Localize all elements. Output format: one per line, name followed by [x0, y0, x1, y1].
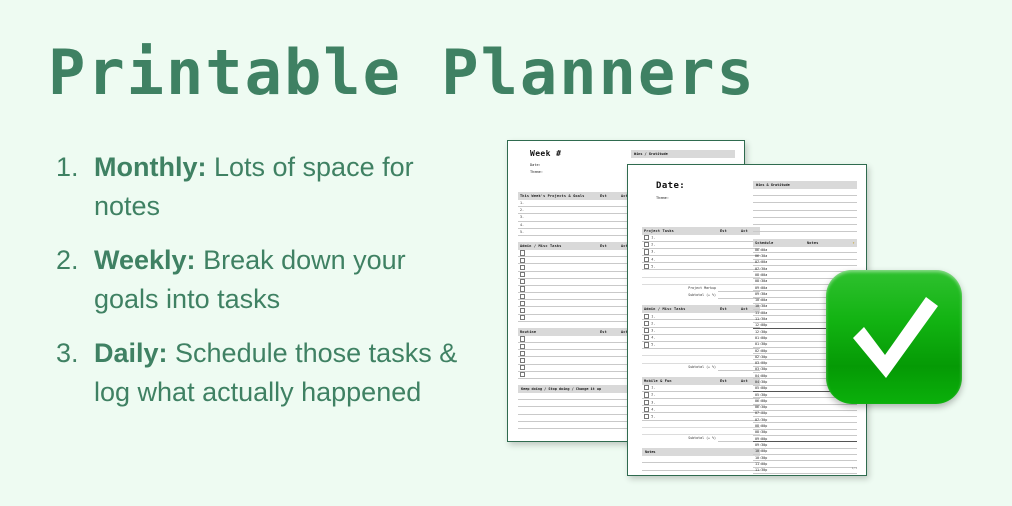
table-cell-task[interactable]	[518, 250, 598, 257]
table-cell-est[interactable]	[598, 207, 619, 214]
weekly-wins-header: Wins / Gratitude	[631, 150, 735, 158]
table-row[interactable]: 2.	[518, 207, 640, 214]
table-header-row: Project TasksEstAct	[642, 227, 760, 235]
table-row[interactable]	[518, 264, 640, 271]
table-cell-est[interactable]	[718, 256, 739, 263]
checkbox-icon[interactable]	[644, 249, 649, 254]
checkbox-icon[interactable]	[644, 414, 649, 419]
table-row[interactable]: 4.	[642, 406, 760, 413]
planner-table: Admin / Misc TasksEstAct	[518, 242, 640, 322]
table-row[interactable]: 5.	[642, 341, 760, 348]
table-cell-task[interactable]	[642, 270, 718, 277]
checkbox-icon[interactable]	[644, 321, 649, 326]
table-row-blank[interactable]	[642, 356, 760, 363]
table-cell-est[interactable]	[598, 371, 619, 378]
table-cell-task[interactable]	[642, 277, 718, 284]
weekly-reflection-header: Keep doing / Stop doing / Change it up	[518, 385, 640, 393]
table-cell-task[interactable]	[518, 307, 598, 314]
table-cell-task[interactable]	[518, 278, 598, 285]
table-total-row: Subtotal (+ %)	[642, 292, 760, 299]
table-cell-task[interactable]: 2.	[518, 207, 598, 214]
table-row[interactable]: 3.	[642, 327, 760, 334]
table-row[interactable]	[518, 336, 640, 343]
table-cell-est[interactable]	[598, 257, 619, 264]
table-cell-est[interactable]	[598, 364, 619, 371]
weekly-reflection-line[interactable]	[518, 422, 640, 429]
checkbox-icon[interactable]	[520, 301, 525, 306]
checkbox-icon[interactable]	[520, 344, 525, 349]
weekly-title: Week #	[530, 149, 640, 158]
table-cell-task[interactable]	[518, 357, 598, 364]
checkbox-icon[interactable]	[644, 335, 649, 340]
check-mark-glyph	[826, 270, 962, 404]
checkbox-icon[interactable]	[520, 258, 525, 263]
table-cell-task[interactable]: 4.	[642, 406, 718, 413]
table-cell-est[interactable]	[598, 214, 619, 221]
daily-notes-line[interactable]	[642, 471, 760, 476]
table-row-blank[interactable]	[642, 420, 760, 427]
table-row[interactable]	[518, 285, 640, 292]
weekly-tables: This Week's Projects & GoalsEstAct1.2.3.…	[518, 192, 640, 429]
table-row[interactable]: 1.	[642, 313, 760, 320]
table-cell-task[interactable]: 2.	[642, 391, 718, 398]
table-cell-est[interactable]	[598, 221, 619, 228]
star-icon: ✦	[852, 241, 855, 245]
table-cell-task[interactable]: 1.	[642, 385, 718, 392]
table-cell-task[interactable]	[642, 356, 718, 363]
table-row[interactable]	[518, 278, 640, 285]
table-row[interactable]: 3.	[518, 214, 640, 221]
table-cell-task[interactable]	[642, 349, 718, 356]
checkbox-icon[interactable]	[644, 242, 649, 247]
table-header-est: Est	[598, 242, 619, 250]
checkbox-icon[interactable]	[644, 407, 649, 412]
checkbox-icon[interactable]	[644, 257, 649, 262]
table-row[interactable]: 4.	[518, 221, 640, 228]
table-row[interactable]	[518, 350, 640, 357]
list-item-number: 2.	[56, 241, 94, 280]
slide-canvas: Printable Planners 1. Monthly: Lots of s…	[0, 0, 1012, 506]
table-cell-est[interactable]	[718, 277, 739, 284]
weekly-reflection-line[interactable]	[518, 407, 640, 414]
table-total-est[interactable]	[718, 363, 739, 370]
table-header-row: This Week's Projects & GoalsEstAct	[518, 192, 640, 200]
list-item-lead: Daily:	[94, 338, 168, 368]
table-header-est: Est	[718, 227, 739, 235]
table-cell-est[interactable]	[718, 420, 739, 427]
table-header-label: Mobile & Fun	[642, 377, 718, 385]
table-cell-est[interactable]	[598, 271, 619, 278]
list-item-text: Daily: Schedule those tasks & log what a…	[94, 334, 476, 411]
table-cell-est[interactable]	[718, 427, 739, 434]
table-cell-est[interactable]	[718, 385, 739, 392]
table-cell-task[interactable]	[518, 343, 598, 350]
page-title: Printable Planners	[48, 36, 756, 109]
table-cell-est[interactable]	[598, 278, 619, 285]
table-row[interactable]	[518, 314, 640, 321]
table-cell-task[interactable]	[518, 364, 598, 371]
planner-type-list: 1. Monthly: Lots of space for notes 2. W…	[56, 148, 476, 428]
table-row[interactable]: 2.	[642, 241, 760, 248]
checkbox-icon[interactable]	[520, 358, 525, 363]
table-cell-est[interactable]	[718, 313, 739, 320]
weekly-reflection-line[interactable]	[518, 415, 640, 422]
checkbox-icon[interactable]	[520, 294, 525, 299]
table-header-label: This Week's Projects & Goals	[518, 192, 598, 200]
table-header-row: Mobile & FunEstAct	[642, 377, 760, 385]
checkbox-icon[interactable]	[644, 392, 649, 397]
table-total-est[interactable]	[718, 284, 739, 291]
table-cell-task[interactable]: 5.	[642, 263, 718, 270]
table-cell-task[interactable]	[642, 420, 718, 427]
table-row[interactable]: 4.	[642, 256, 760, 263]
list-item-text: Weekly: Break down your goals into tasks	[94, 241, 476, 318]
table-cell-task[interactable]: 3.	[642, 248, 718, 255]
schedule-note-cell[interactable]	[805, 467, 857, 473]
table-cell-est[interactable]	[598, 343, 619, 350]
table-cell-task[interactable]	[518, 285, 598, 292]
daily-notes-line[interactable]	[642, 456, 760, 463]
checkbox-icon[interactable]	[644, 264, 649, 269]
table-header-est: Est	[598, 328, 619, 336]
table-cell-est[interactable]	[718, 241, 739, 248]
table-row[interactable]: 2.	[642, 320, 760, 327]
table-cell-task[interactable]	[518, 293, 598, 300]
checkbox-icon[interactable]	[520, 336, 525, 341]
weekly-left-column: Week # Date: Theme: This Week's Projects…	[518, 141, 640, 429]
table-cell-est[interactable]	[718, 248, 739, 255]
checkbox-icon[interactable]	[520, 308, 525, 313]
table-cell-task[interactable]	[642, 427, 718, 434]
table-cell-task[interactable]: 1.	[642, 313, 718, 320]
schedule-row[interactable]: 11:30p	[753, 467, 857, 473]
table-cell-task[interactable]	[518, 271, 598, 278]
planner-section: Mobile & FunEstAct1.2.3.4.5. Subtotal (+…	[642, 377, 760, 443]
schedule-header-time: Schedule	[753, 239, 805, 247]
weekly-reflection-line[interactable]	[518, 400, 640, 407]
table-cell-est[interactable]	[598, 357, 619, 364]
daily-title: Date:	[656, 181, 760, 191]
table-cell-task[interactable]: 3.	[518, 214, 598, 221]
checkbox-icon[interactable]	[644, 314, 649, 319]
table-cell-est[interactable]	[718, 263, 739, 270]
list-item-number: 1.	[56, 148, 94, 187]
table-cell-est[interactable]	[598, 336, 619, 343]
table-row[interactable]	[518, 293, 640, 300]
list-item-lead: Weekly:	[94, 245, 196, 275]
table-cell-est[interactable]	[718, 270, 739, 277]
daily-notes-lines	[642, 456, 760, 476]
checkbox-icon[interactable]	[520, 351, 525, 356]
table-total-est[interactable]	[718, 292, 739, 299]
daily-wins-line[interactable]	[753, 203, 857, 210]
planner-section: This Week's Projects & GoalsEstAct1.2.3.…	[518, 192, 640, 236]
table-total-label: Project Markup	[642, 284, 718, 291]
table-row[interactable]	[518, 250, 640, 257]
table-row-blank[interactable]	[642, 270, 760, 277]
daily-left-column: Date: Theme: Project TasksEstAct1.2.3.4.…	[642, 165, 760, 476]
table-cell-est[interactable]	[718, 391, 739, 398]
table-cell-task[interactable]	[518, 257, 598, 264]
table-cell-task[interactable]: 3.	[642, 399, 718, 406]
checkbox-icon[interactable]	[644, 328, 649, 333]
table-header-est: Est	[598, 192, 619, 200]
table-cell-est[interactable]	[718, 413, 739, 420]
checkbox-icon[interactable]	[644, 342, 649, 347]
table-cell-task[interactable]	[518, 300, 598, 307]
schedule-header-row: ScheduleNotes✦	[753, 239, 857, 247]
table-cell-est[interactable]	[718, 341, 739, 348]
table-cell-est[interactable]	[718, 235, 739, 242]
weekly-reflection-lines	[518, 393, 640, 429]
table-header-label: Admin / Misc Tasks	[518, 242, 598, 250]
table-cell-est[interactable]	[598, 285, 619, 292]
table-cell-est[interactable]	[598, 307, 619, 314]
table-cell-task[interactable]: 5.	[642, 341, 718, 348]
table-total-row: Subtotal (+ %)	[642, 435, 760, 442]
table-cell-task[interactable]: 5.	[642, 413, 718, 420]
daily-notes-line[interactable]	[642, 463, 760, 470]
table-cell-task[interactable]	[518, 264, 598, 271]
schedule-time-label: 11:30p	[753, 467, 805, 473]
daily-wins-line[interactable]	[753, 218, 857, 225]
table-total-est[interactable]	[718, 435, 739, 442]
planner-table: Mobile & FunEstAct1.2.3.4.5. Subtotal (+…	[642, 377, 760, 443]
weekly-field-theme: Theme:	[530, 170, 640, 174]
table-cell-task[interactable]	[518, 371, 598, 378]
planner-section: Admin / Misc TasksEstAct	[518, 242, 640, 322]
table-row[interactable]: 2.	[642, 391, 760, 398]
table-header-label: Routine	[518, 328, 598, 336]
table-row[interactable]	[518, 300, 640, 307]
schedule-header-notes: Notes✦	[805, 239, 857, 247]
table-row[interactable]: 3.	[642, 399, 760, 406]
list-item-lead: Monthly:	[94, 152, 206, 182]
table-cell-task[interactable]: 2.	[642, 320, 718, 327]
table-header-row: Admin / Misc TasksEstAct	[642, 305, 760, 313]
list-item: 2. Weekly: Break down your goals into ta…	[56, 241, 476, 318]
daily-wins-lines	[753, 189, 857, 232]
table-row[interactable]: 5.	[642, 263, 760, 270]
table-row[interactable]	[518, 371, 640, 378]
checkbox-icon[interactable]	[520, 365, 525, 370]
table-row-blank[interactable]	[642, 277, 760, 284]
planner-table: RoutineEstAct	[518, 328, 640, 379]
daily-wins-line[interactable]	[753, 189, 857, 196]
table-cell-est[interactable]	[598, 264, 619, 271]
table-row[interactable]	[518, 271, 640, 278]
checkbox-icon[interactable]	[520, 279, 525, 284]
table-row-blank[interactable]	[642, 427, 760, 434]
table-row[interactable]: 1.	[642, 235, 760, 242]
daily-field-theme: Theme:	[656, 196, 760, 200]
table-cell-est[interactable]	[718, 356, 739, 363]
table-cell-est[interactable]	[718, 327, 739, 334]
checkbox-icon[interactable]	[520, 372, 525, 377]
table-cell-task[interactable]: 4.	[642, 256, 718, 263]
list-item-number: 3.	[56, 334, 94, 373]
daily-page-number: 1/1	[852, 466, 857, 470]
table-header-est: Est	[718, 305, 739, 313]
table-row[interactable]	[518, 257, 640, 264]
table-cell-est[interactable]	[598, 250, 619, 257]
table-row[interactable]: 1.	[518, 200, 640, 207]
planner-section: Admin / Misc TasksEstAct1.2.3.4.5. Subto…	[642, 305, 760, 371]
table-row-blank[interactable]	[642, 349, 760, 356]
checkbox-icon[interactable]	[520, 315, 525, 320]
table-cell-est[interactable]	[598, 293, 619, 300]
weekly-field-date: Date:	[530, 163, 640, 167]
table-cell-est[interactable]	[718, 406, 739, 413]
table-header-label: Project Tasks	[642, 227, 718, 235]
table-row[interactable]: 3.	[642, 248, 760, 255]
table-cell-task[interactable]: 3.	[642, 327, 718, 334]
daily-wins-header: Wins & Gratitude	[753, 181, 857, 189]
daily-wins-line[interactable]	[753, 211, 857, 218]
table-header-label: Admin / Misc Tasks	[642, 305, 718, 313]
table-row[interactable]: 5.	[642, 413, 760, 420]
table-header-est: Est	[718, 377, 739, 385]
checkbox-icon[interactable]	[520, 265, 525, 270]
check-mark-icon	[826, 270, 962, 404]
table-row[interactable]	[518, 364, 640, 371]
list-item: 3. Daily: Schedule those tasks & log wha…	[56, 334, 476, 411]
list-item-text: Monthly: Lots of space for notes	[94, 148, 476, 225]
table-header-row: RoutineEstAct	[518, 328, 640, 336]
table-cell-est[interactable]	[598, 350, 619, 357]
table-cell-task[interactable]: 1.	[642, 235, 718, 242]
checkbox-icon[interactable]	[520, 272, 525, 277]
table-cell-task[interactable]: 2.	[642, 241, 718, 248]
table-cell-est[interactable]	[718, 349, 739, 356]
table-total-row: Subtotal (+ %)	[642, 363, 760, 370]
table-row[interactable]	[518, 343, 640, 350]
table-cell-task[interactable]: 4.	[642, 334, 718, 341]
planner-section: Project TasksEstAct1.2.3.4.5. Project Ma…	[642, 227, 760, 300]
checkbox-icon[interactable]	[644, 385, 649, 390]
planner-table: Project TasksEstAct1.2.3.4.5. Project Ma…	[642, 227, 760, 300]
table-total-label: Subtotal (+ %)	[642, 292, 718, 299]
table-cell-est[interactable]	[598, 314, 619, 321]
table-cell-est[interactable]	[598, 300, 619, 307]
table-cell-task[interactable]: 5.	[518, 228, 598, 235]
table-total-label: Subtotal (+ %)	[642, 363, 718, 370]
table-cell-task[interactable]	[518, 314, 598, 321]
table-cell-est[interactable]	[598, 200, 619, 207]
table-cell-est[interactable]	[718, 399, 739, 406]
table-row[interactable]	[518, 307, 640, 314]
checkbox-icon[interactable]	[520, 286, 525, 291]
table-cell-est[interactable]	[718, 334, 739, 341]
planner-table: Admin / Misc TasksEstAct1.2.3.4.5. Subto…	[642, 305, 760, 371]
daily-wins-line[interactable]	[753, 196, 857, 203]
table-cell-est[interactable]	[598, 228, 619, 235]
daily-notes-header: Notes	[642, 448, 760, 456]
daily-wins-line[interactable]	[753, 225, 857, 232]
table-cell-task[interactable]: 1.	[518, 200, 598, 207]
table-total-label: Subtotal (+ %)	[642, 435, 718, 442]
list-item: 1. Monthly: Lots of space for notes	[56, 148, 476, 225]
daily-tables: Project TasksEstAct1.2.3.4.5. Project Ma…	[642, 227, 760, 443]
table-cell-est[interactable]	[718, 320, 739, 327]
table-cell-task[interactable]	[518, 336, 598, 343]
table-cell-task[interactable]: 4.	[518, 221, 598, 228]
checkbox-icon[interactable]	[644, 400, 649, 405]
table-row[interactable]: 4.	[642, 334, 760, 341]
checkbox-icon[interactable]	[520, 250, 525, 255]
table-row[interactable]: 1.	[642, 385, 760, 392]
table-total-row: Project Markup	[642, 284, 760, 291]
planner-table: This Week's Projects & GoalsEstAct1.2.3.…	[518, 192, 640, 236]
weekly-reflection-line[interactable]	[518, 393, 640, 400]
table-header-row: Admin / Misc TasksEstAct	[518, 242, 640, 250]
table-row[interactable]: 5.	[518, 228, 640, 235]
table-cell-task[interactable]	[518, 350, 598, 357]
table-row[interactable]	[518, 357, 640, 364]
checkbox-icon[interactable]	[644, 235, 649, 240]
planner-section: RoutineEstAct	[518, 328, 640, 379]
